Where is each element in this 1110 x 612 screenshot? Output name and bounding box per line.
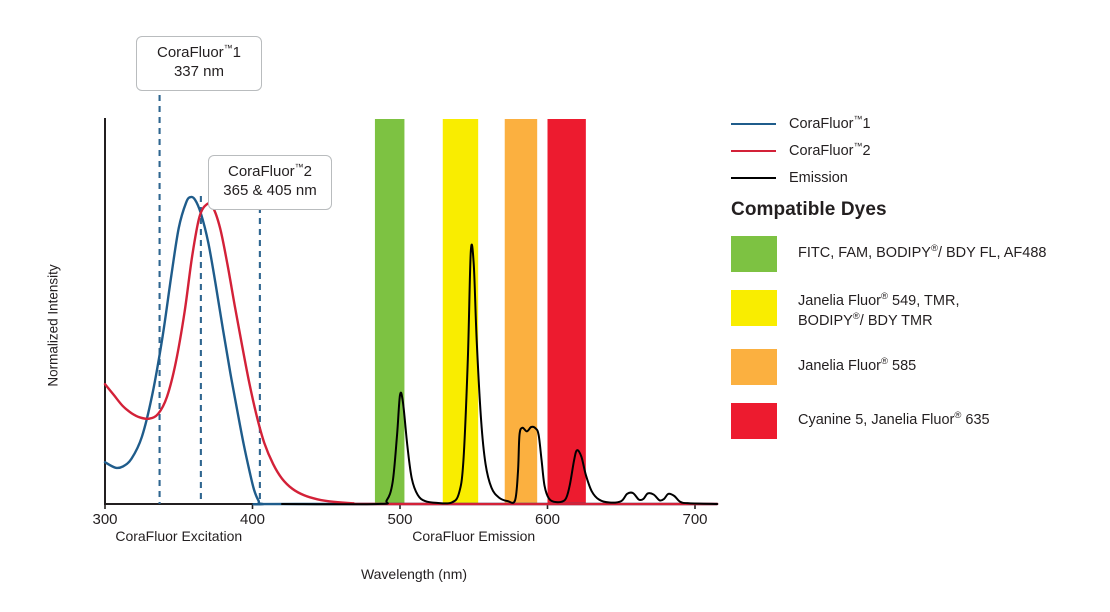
x-tick-label-300: 300 [75,511,135,528]
trademark-icon: ™ [295,162,304,172]
legend-line-swatch [731,177,776,179]
registered-icon: ® [881,356,888,367]
dye-label-line1: Cyanine 5, Janelia Fluor® 635 [798,412,990,428]
compatible-dyes-title: Compatible Dyes [731,199,1103,221]
dye-item-label: Cyanine 5, Janelia Fluor® 635 [798,403,990,431]
dye-label-line1: Janelia Fluor® 585 [798,358,916,374]
legend-item-label: CoraFluor™2 [789,143,871,159]
y-axis-title: Normalized Intensity [46,246,61,406]
x-tick-label-600: 600 [518,511,578,528]
yellow-band [443,119,478,504]
callout-corafluor1: CoraFluor™1 337 nm [136,36,262,91]
series-legend: CoraFluor™1CoraFluor™2Emission [731,110,1091,191]
dye-item-0: FITC, FAM, BODIPY®/ BDY FL, AF488 [731,236,1103,272]
dye-color-swatch [731,349,777,385]
fluorescence-spectra-figure: CoraFluor™1 337 nm CoraFluor™2 365 & 405… [0,0,1110,612]
legend-item-2: Emission [731,164,1091,191]
green-band [375,119,405,504]
registered-icon: ® [931,243,938,254]
dye-label-line1: Janelia Fluor® 549, TMR, [798,293,959,309]
compatible-dyes-list: FITC, FAM, BODIPY®/ BDY FL, AF488Janelia… [731,236,1103,439]
dye-color-swatch [731,236,777,272]
legend-item-0: CoraFluor™1 [731,110,1091,137]
plot-axes [104,118,718,509]
dye-label-line2: BODIPY®/ BDY TMR [798,312,959,332]
dye-item-2: Janelia Fluor® 585 [731,349,1103,385]
trademark-icon: ™ [853,141,862,151]
red-band [548,119,586,504]
registered-icon: ® [954,410,961,421]
legend-item-label: CoraFluor™1 [789,116,871,132]
legend-item-1: CoraFluor™2 [731,137,1091,164]
dye-item-3: Cyanine 5, Janelia Fluor® 635 [731,403,1103,439]
trademark-icon: ™ [853,114,862,124]
compatible-dyes-panel: Compatible Dyes FITC, FAM, BODIPY®/ BDY … [731,199,1103,457]
dye-label-line1: FITC, FAM, BODIPY®/ BDY FL, AF488 [798,245,1046,261]
orange-band [505,119,537,504]
x-tick-label-500: 500 [370,511,430,528]
x-axis-title: Wavelength (nm) [0,566,828,582]
callout-corafluor1-line2: 337 nm [149,63,249,82]
axis-sublabel-emission: CoraFluor Emission [384,528,564,544]
dye-color-swatch [731,403,777,439]
axis-sublabel-excitation: CoraFluor Excitation [89,528,269,544]
trademark-icon: ™ [224,43,233,53]
callout-corafluor2-line2: 365 & 405 nm [221,182,319,201]
legend-line-swatch [731,123,776,125]
legend-item-label: Emission [789,170,848,186]
x-tick-label-400: 400 [223,511,283,528]
curve-emission [282,245,717,505]
dye-color-swatch [731,290,777,326]
dye-item-label: Janelia Fluor® 585 [798,349,916,377]
legend-line-swatch [731,150,776,152]
curve-corafluor2 [105,203,717,504]
curve-corafluor1 [105,197,717,504]
dye-item-label: Janelia Fluor® 549, TMR,BODIPY®/ BDY TMR [798,290,959,331]
callout-corafluor2: CoraFluor™2 365 & 405 nm [208,155,332,210]
x-tick-label-700: 700 [665,511,725,528]
dye-item-1: Janelia Fluor® 549, TMR,BODIPY®/ BDY TMR [731,290,1103,331]
registered-icon: ® [881,291,888,302]
dye-item-label: FITC, FAM, BODIPY®/ BDY FL, AF488 [798,236,1046,264]
callout-corafluor1-line1: CoraFluor™1 [149,44,249,63]
callout-corafluor2-line1: CoraFluor™2 [221,163,319,182]
registered-icon: ® [853,311,860,322]
spectra-curves [105,197,717,504]
